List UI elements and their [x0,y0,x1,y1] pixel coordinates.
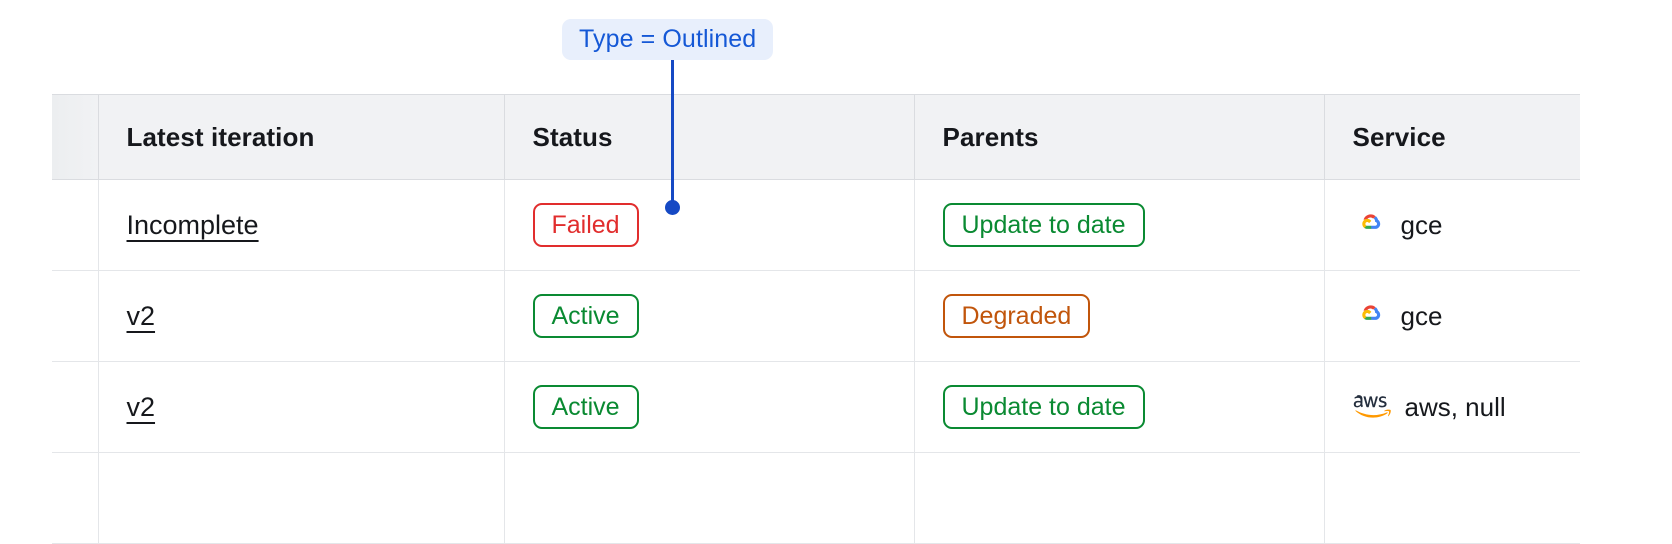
status-chip[interactable]: Failed [533,203,639,247]
cell-latest-iteration [98,453,504,544]
cell-status [504,453,914,544]
table-row[interactable] [52,453,1580,544]
table-row[interactable]: IncompleteFailedUpdate to dategce [52,180,1580,271]
data-table: Latest iteration Status Parents Service … [52,94,1580,544]
row-spacer-cell [52,362,98,453]
column-header-label: Latest iteration [99,122,504,153]
iteration-link[interactable]: v2 [127,301,156,332]
google-cloud-icon [1353,208,1387,242]
service-entry: gce [1353,208,1443,242]
column-header-spacer [52,95,98,180]
cell-status: Active [504,362,914,453]
table-row[interactable]: v2ActiveDegradedgce [52,271,1580,362]
column-header-label: Status [505,122,914,153]
column-header-latest-iteration[interactable]: Latest iteration [98,95,504,180]
service-name: gce [1401,210,1443,241]
table-header-row: Latest iteration Status Parents Service [52,95,1580,180]
table-header: Latest iteration Status Parents Service [52,95,1580,180]
google-cloud-icon [1353,299,1387,333]
table-body: IncompleteFailedUpdate to dategcev2Activ… [52,180,1580,544]
cell-parents: Update to date [914,362,1324,453]
row-spacer-cell [52,453,98,544]
service-entry: gce [1353,299,1443,333]
service-name: aws, null [1405,392,1506,423]
row-spacer-cell [52,180,98,271]
annotation-badge: Type = Outlined [562,19,773,60]
iteration-link[interactable]: Incomplete [127,210,259,241]
status-chip[interactable]: Active [533,385,639,429]
cell-parents: Update to date [914,180,1324,271]
status-chip[interactable]: Active [533,294,639,338]
iteration-link[interactable]: v2 [127,392,156,423]
column-header-status[interactable]: Status [504,95,914,180]
cell-latest-iteration: v2 [98,271,504,362]
parents-chip[interactable]: Degraded [943,294,1091,338]
cell-service [1324,453,1580,544]
parents-chip[interactable]: Update to date [943,385,1145,429]
cell-status: Active [504,271,914,362]
parents-chip[interactable]: Update to date [943,203,1145,247]
cell-status: Failed [504,180,914,271]
aws-icon [1353,393,1391,421]
column-header-label: Service [1325,122,1581,153]
column-header-label: Parents [915,122,1324,153]
column-header-service[interactable]: Service [1324,95,1580,180]
table-row[interactable]: v2ActiveUpdate to dateaws, null [52,362,1580,453]
cell-service: aws, null [1324,362,1580,453]
data-table-container: Latest iteration Status Parents Service … [52,94,1580,544]
cell-service: gce [1324,180,1580,271]
cell-latest-iteration: Incomplete [98,180,504,271]
cell-latest-iteration: v2 [98,362,504,453]
service-entry: aws, null [1353,392,1506,423]
service-name: gce [1401,301,1443,332]
cell-service: gce [1324,271,1580,362]
column-header-parents[interactable]: Parents [914,95,1324,180]
cell-parents [914,453,1324,544]
row-spacer-cell [52,271,98,362]
cell-parents: Degraded [914,271,1324,362]
